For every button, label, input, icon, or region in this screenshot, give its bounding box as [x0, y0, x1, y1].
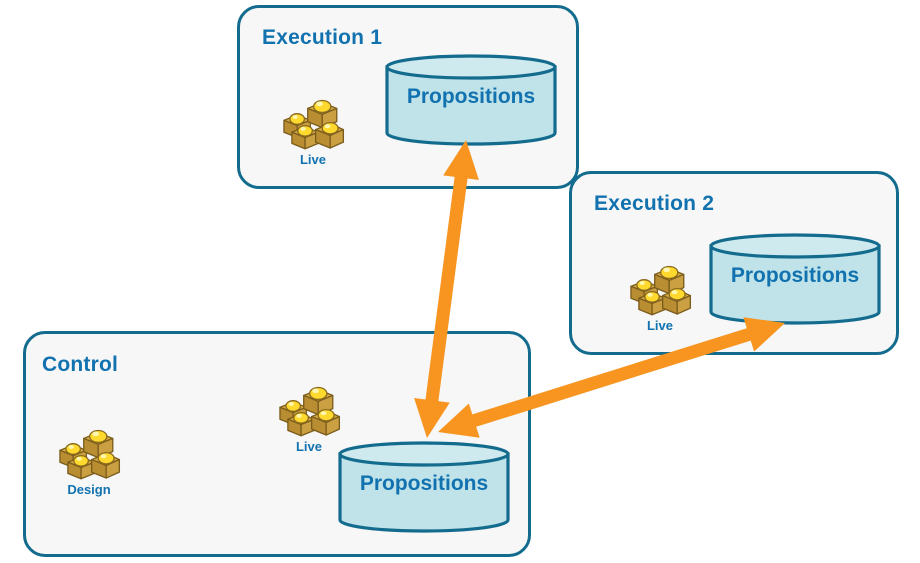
group-title-control: Control	[42, 353, 118, 377]
database-cylinder-propositions-control[interactable]: Propositions	[337, 440, 511, 534]
boxes-of-gold-icon	[280, 86, 346, 152]
package-label-live-execution-2: Live	[627, 318, 693, 333]
package-icon-live-control: Live	[276, 373, 342, 439]
group-title-execution-2: Execution 2	[594, 192, 714, 216]
group-title-execution-1: Execution 1	[262, 26, 382, 50]
package-icon-live-execution-1: Live	[280, 86, 346, 152]
group-box-execution-1[interactable]: Execution 1	[237, 5, 579, 189]
package-icon-design-control: Design	[56, 416, 122, 482]
database-cylinder-propositions-execution-2[interactable]: Propositions	[708, 232, 882, 326]
boxes-of-gold-icon	[276, 373, 342, 439]
package-icon-live-execution-2: Live	[627, 252, 693, 318]
boxes-of-gold-icon	[56, 416, 122, 482]
database-cylinder-propositions-execution-1[interactable]: Propositions	[384, 53, 558, 147]
cylinder-label-propositions-execution-1: Propositions	[384, 85, 558, 109]
group-box-execution-2[interactable]: Execution 2	[569, 171, 899, 355]
group-box-control[interactable]: Control	[23, 331, 531, 557]
package-label-live-control: Live	[276, 439, 342, 454]
cylinder-label-propositions-control: Propositions	[337, 472, 511, 496]
boxes-of-gold-icon	[627, 252, 693, 318]
cylinder-label-propositions-execution-2: Propositions	[708, 264, 882, 288]
package-label-design-control: Design	[56, 482, 122, 497]
diagram-canvas: Execution 1	[0, 0, 920, 563]
package-label-live-execution-1: Live	[280, 152, 346, 167]
